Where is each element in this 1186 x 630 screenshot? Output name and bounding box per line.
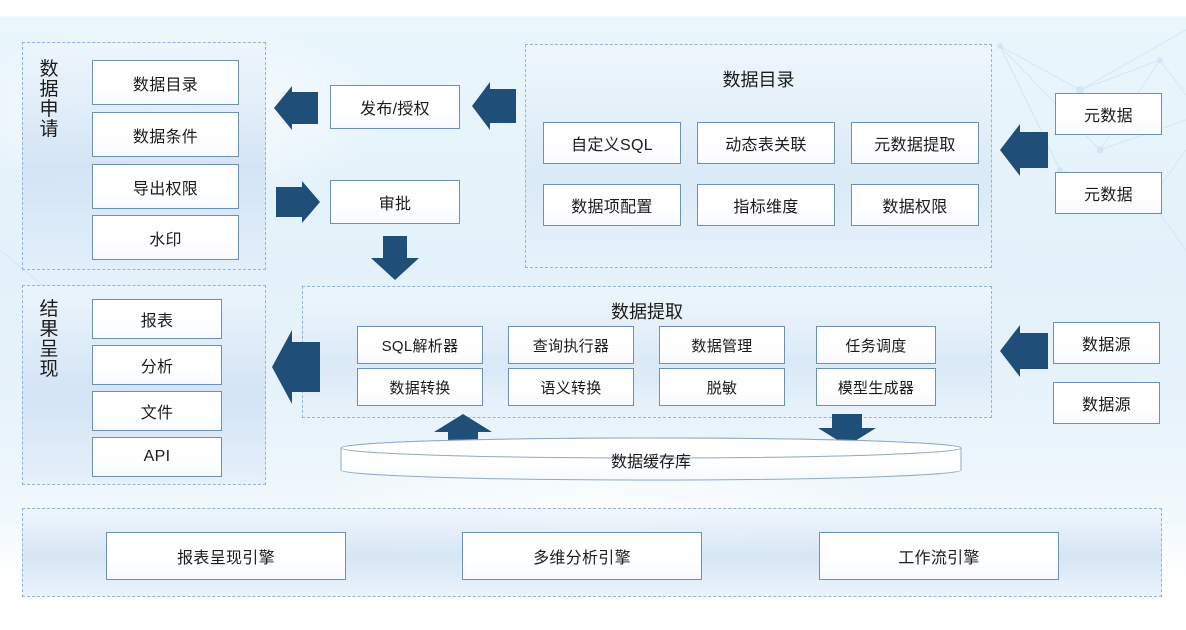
node-data-condition[interactable]: 数据条件: [92, 112, 239, 157]
node-custom-sql[interactable]: 自定义SQL: [543, 122, 681, 164]
arrow-request-to-approval: [276, 181, 320, 223]
node-watermark[interactable]: 水印: [92, 215, 239, 260]
arrow-approval-to-extract: [371, 236, 419, 280]
node-data-cache-store-label: 数据缓存库: [340, 448, 962, 472]
arrow-extract-to-result: [272, 330, 320, 404]
group-data-request-label: 数据申请: [36, 60, 62, 141]
node-sql-parser[interactable]: SQL解析器: [357, 326, 483, 364]
architecture-diagram: 数据申请 数据目录 数据条件 导出权限 水印 结果呈现 报表 分析 文件 API…: [0, 0, 1186, 630]
node-task-scheduling[interactable]: 任务调度: [816, 326, 936, 364]
node-semantic-transform[interactable]: 语义转换: [508, 368, 634, 406]
arrow-catalog-to-publish: [472, 82, 516, 130]
node-api[interactable]: API: [92, 437, 222, 477]
node-report[interactable]: 报表: [92, 299, 222, 339]
node-metadata-2[interactable]: 元数据: [1055, 172, 1162, 214]
arrow-publish-to-request: [274, 86, 318, 130]
node-data-item-config[interactable]: 数据项配置: [543, 184, 681, 226]
node-datasource-1[interactable]: 数据源: [1053, 322, 1160, 364]
node-file[interactable]: 文件: [92, 391, 222, 431]
node-analysis[interactable]: 分析: [92, 345, 222, 385]
node-report-render-engine[interactable]: 报表呈现引擎: [106, 532, 346, 580]
node-workflow-engine[interactable]: 工作流引擎: [819, 532, 1059, 580]
group-data-extract-title: 数据提取: [302, 298, 992, 324]
group-data-catalog-title: 数据目录: [525, 66, 992, 92]
node-model-generator[interactable]: 模型生成器: [816, 368, 936, 406]
node-approval[interactable]: 审批: [330, 180, 460, 224]
node-query-executor[interactable]: 查询执行器: [508, 326, 634, 364]
node-data-management[interactable]: 数据管理: [659, 326, 785, 364]
node-export-permission[interactable]: 导出权限: [92, 164, 239, 209]
node-dynamic-table-join[interactable]: 动态表关联: [697, 122, 835, 164]
group-result-presentation-label: 结果呈现: [36, 300, 62, 381]
node-publish-authorize[interactable]: 发布/授权: [330, 85, 460, 129]
node-metadata-extraction[interactable]: 元数据提取: [851, 122, 979, 164]
node-datasource-2[interactable]: 数据源: [1053, 382, 1160, 424]
node-data-permission[interactable]: 数据权限: [851, 184, 979, 226]
node-data-transform[interactable]: 数据转换: [357, 368, 483, 406]
node-metric-dimension[interactable]: 指标维度: [697, 184, 835, 226]
arrow-metadata-to-catalog: [1000, 124, 1048, 176]
node-metadata-1[interactable]: 元数据: [1055, 93, 1162, 135]
node-multidim-analysis-engine[interactable]: 多维分析引擎: [462, 532, 702, 580]
node-masking[interactable]: 脱敏: [659, 368, 785, 406]
arrow-datasource-to-extract: [1000, 325, 1048, 377]
node-data-catalog-request[interactable]: 数据目录: [92, 60, 239, 105]
